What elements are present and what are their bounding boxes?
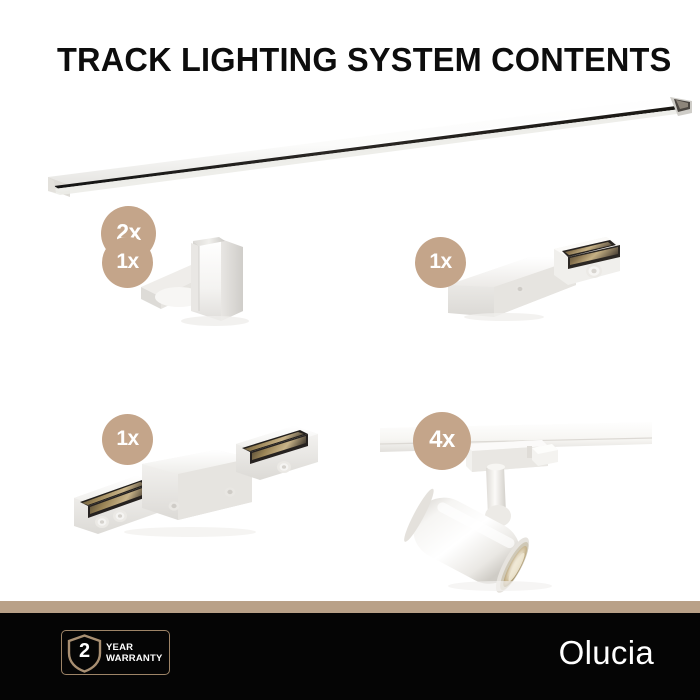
dead-end-cap-illustration [135, 225, 315, 330]
warranty-text: YEAR WARRANTY [106, 642, 163, 664]
warranty-badge: 2 YEAR WARRANTY [61, 630, 170, 675]
product-list: 2x [0, 0, 700, 601]
quantity-badge-dead-end-cap: 1x [102, 237, 153, 288]
product-item-straight-connector: 1x [50, 405, 350, 555]
shield-icon: 2 [66, 633, 103, 673]
brand-logo: Olucia [559, 633, 654, 673]
warranty-line-2: WARRANTY [106, 653, 163, 664]
quantity-label: 1x [116, 427, 138, 451]
product-item-track-spotlight: 4x [375, 405, 655, 595]
quantity-label: 1x [429, 250, 451, 274]
footer-accent-strip [0, 601, 700, 613]
infographic-page: TRACK LIGHTING SYSTEM CONTENTS [0, 0, 700, 700]
quantity-badge-live-end-feed: 1x [415, 237, 466, 288]
quantity-badge-track-spotlight: 4x [413, 412, 471, 470]
track-rail-illustration [40, 85, 700, 205]
live-end-feed-illustration [434, 227, 634, 327]
quantity-label: 4x [429, 426, 455, 454]
product-item-dead-end-cap: 1x [95, 225, 315, 335]
warranty-years-number: 2 [66, 633, 103, 673]
product-item-track-rail: 2x [0, 80, 700, 210]
quantity-badge-straight-connector: 1x [102, 414, 153, 465]
quantity-label: 1x [116, 250, 138, 274]
product-item-live-end-feed: 1x [408, 225, 628, 335]
warranty-line-1: YEAR [106, 642, 163, 653]
